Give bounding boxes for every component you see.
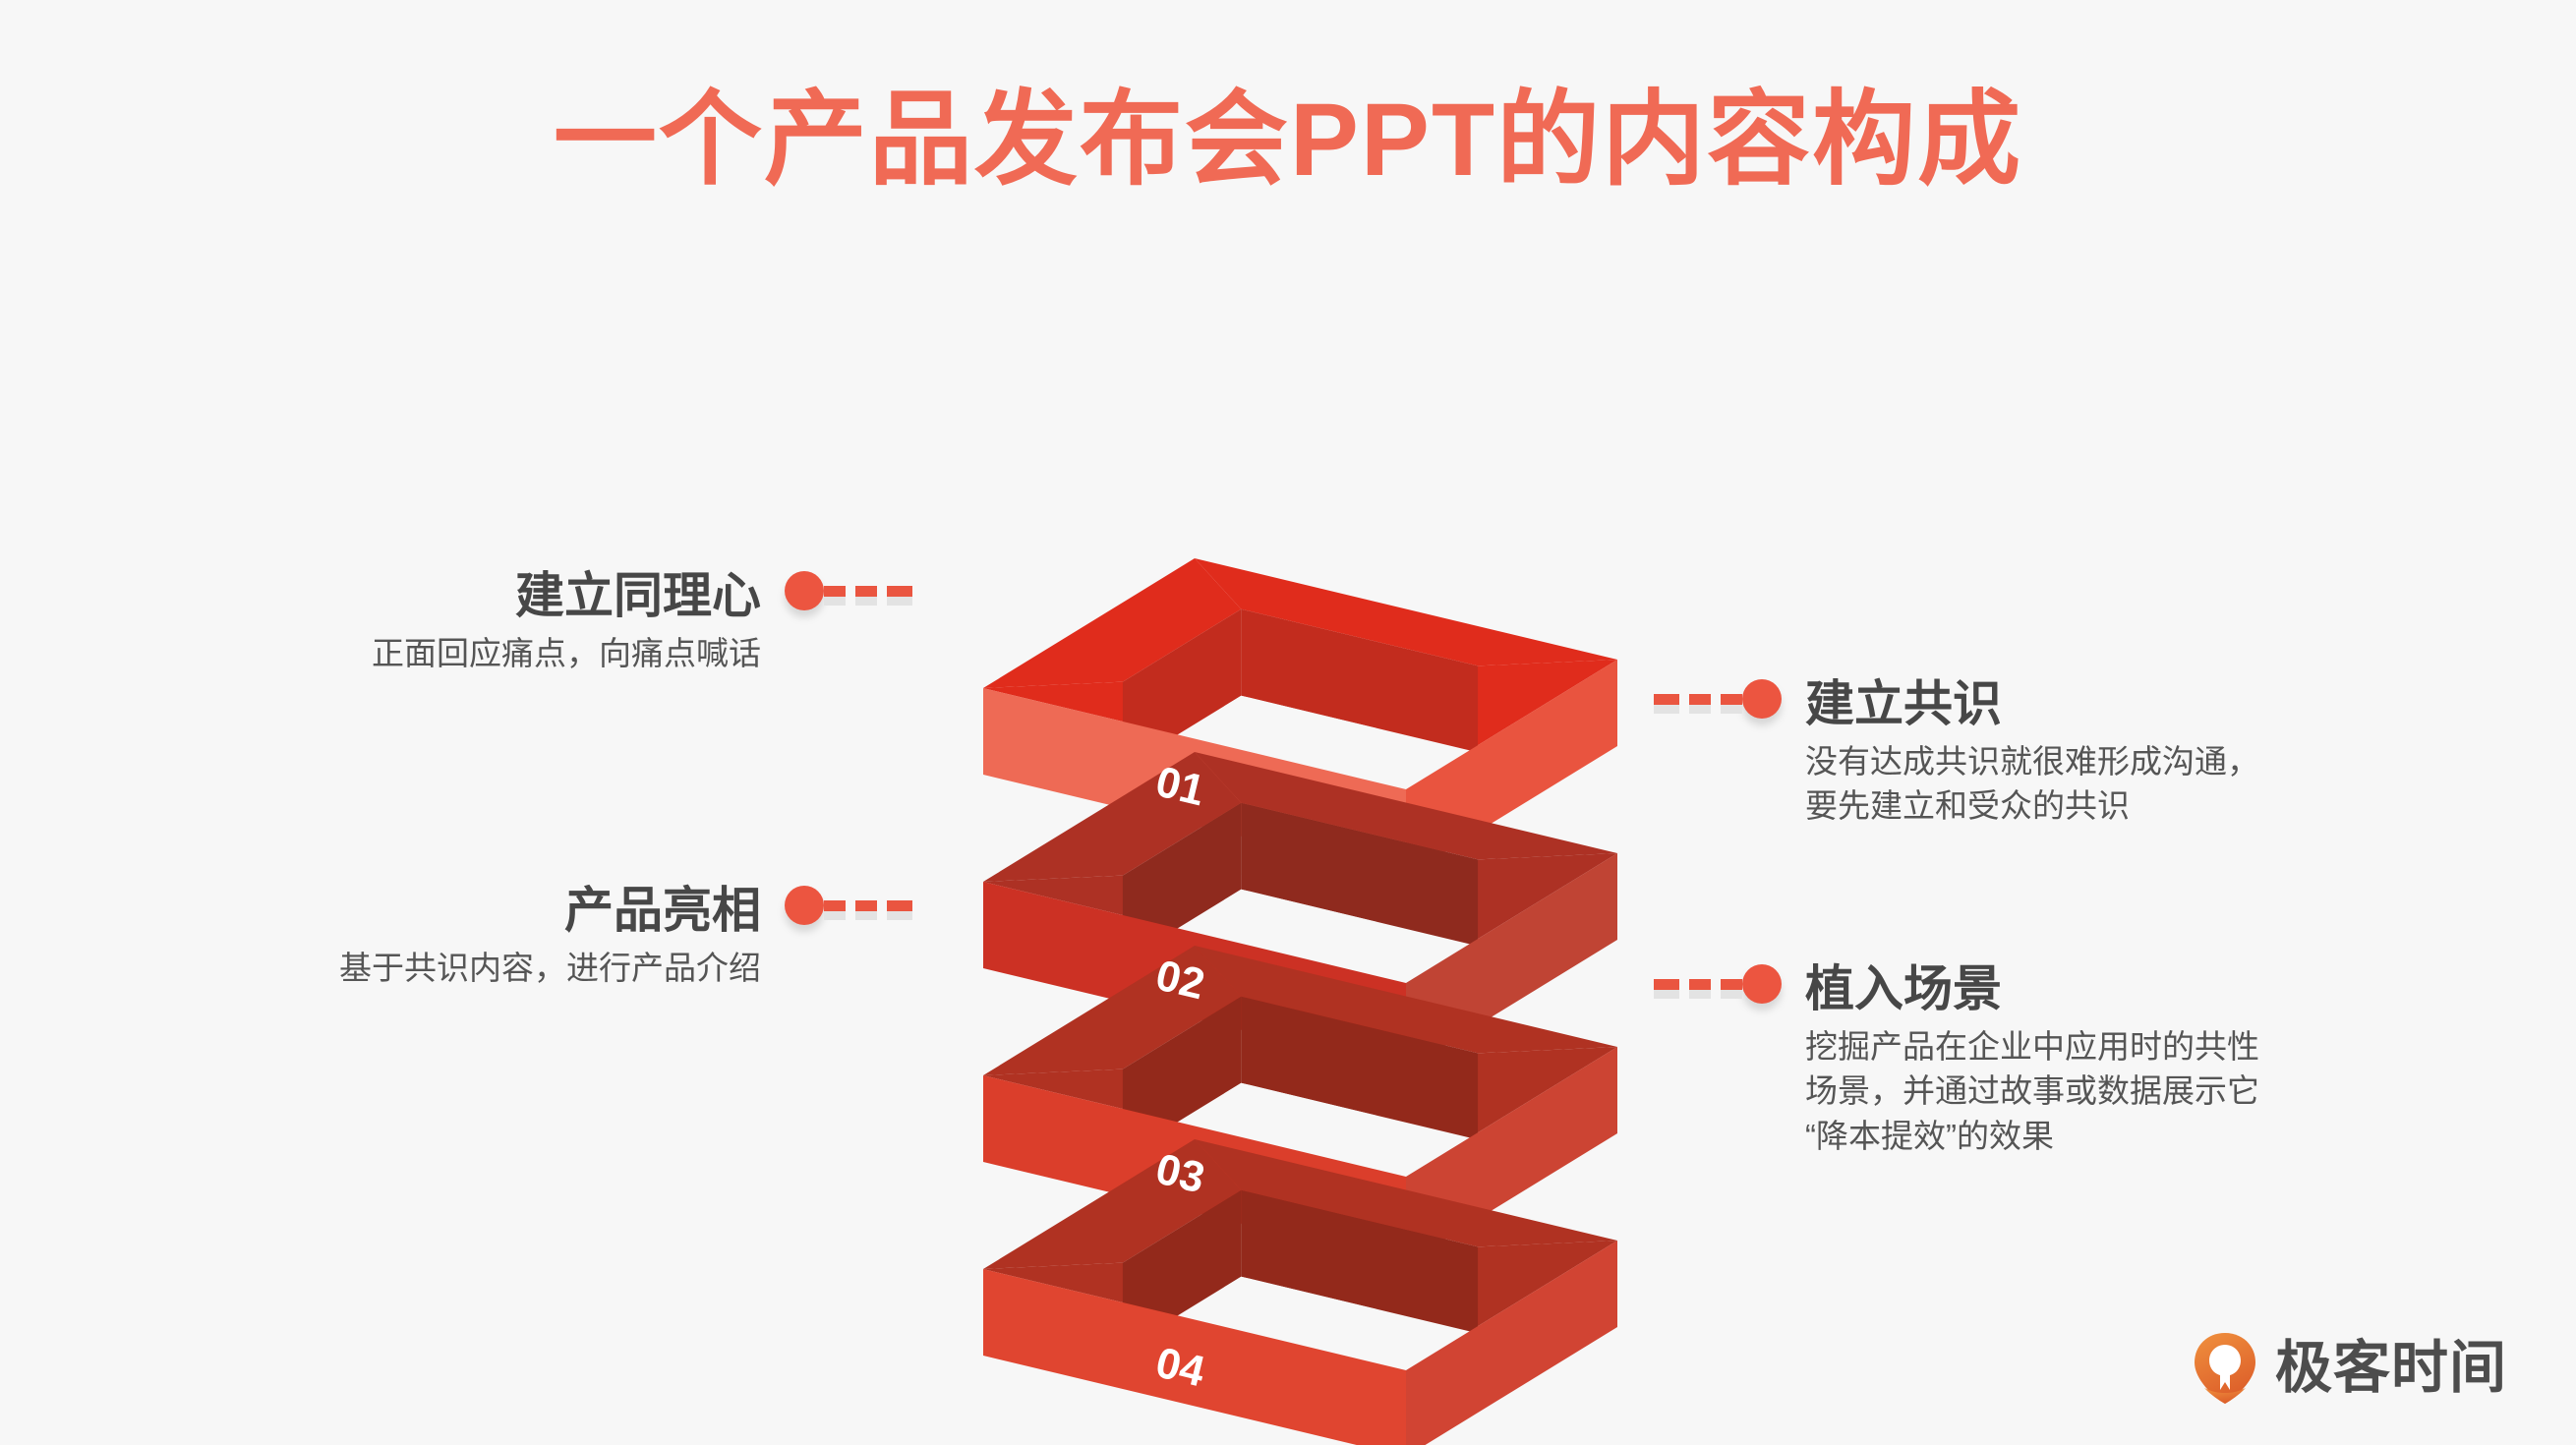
callout-1-texts: 建立同理心 正面回应痛点，向痛点喊话 bbox=[372, 568, 761, 675]
page-title: 一个产品发布会PPT的内容构成 bbox=[0, 79, 2576, 202]
connector-dot-icon bbox=[1742, 964, 1782, 1004]
callout-2-connector bbox=[1671, 676, 1782, 722]
callout-2[interactable]: 建立共识 没有达成共识就很难形成沟通， 要先建立和受众的共识 bbox=[1671, 676, 2259, 829]
callout-3[interactable]: 产品亮相 基于共识内容，进行产品介绍 bbox=[339, 883, 895, 990]
callout-3-heading: 产品亮相 bbox=[339, 883, 761, 940]
connector-dot-icon bbox=[785, 886, 824, 925]
stack-svg: 01020304 bbox=[944, 393, 1691, 1317]
connector-dashes-icon bbox=[824, 900, 891, 911]
callout-3-connector bbox=[785, 883, 895, 928]
connector-dot-icon bbox=[785, 571, 824, 610]
callout-2-heading: 建立共识 bbox=[1805, 676, 2259, 733]
callout-1[interactable]: 建立同理心 正面回应痛点，向痛点喊话 bbox=[372, 568, 895, 675]
callout-3-description: 基于共识内容，进行产品介绍 bbox=[339, 946, 761, 991]
callout-4-texts: 植入场景 挖掘产品在企业中应用时的共性 场景，并通过故事或数据展示它 “降本提效… bbox=[1805, 961, 2259, 1158]
connector-dot-icon bbox=[1742, 679, 1782, 719]
callout-1-connector bbox=[785, 568, 895, 613]
callout-4-connector bbox=[1671, 961, 1782, 1007]
connector-dashes-icon bbox=[824, 586, 891, 597]
callout-4-description: 挖掘产品在企业中应用时的共性 场景，并通过故事或数据展示它 “降本提效”的效果 bbox=[1805, 1024, 2259, 1159]
callout-1-heading: 建立同理心 bbox=[372, 568, 761, 625]
connector-dashes-icon bbox=[1675, 694, 1742, 705]
callout-4[interactable]: 植入场景 挖掘产品在企业中应用时的共性 场景，并通过故事或数据展示它 “降本提效… bbox=[1671, 961, 2259, 1158]
logo-wordmark: 极客时间 bbox=[2275, 1340, 2507, 1397]
brand-logo: 极客时间 bbox=[2191, 1331, 2507, 1406]
connector-dashes-icon bbox=[1675, 979, 1742, 990]
callout-3-texts: 产品亮相 基于共识内容，进行产品介绍 bbox=[339, 883, 761, 990]
slide-canvas: 一个产品发布会PPT的内容构成 01020304 建立同理心 正面回应痛点，向痛… bbox=[0, 0, 2576, 1445]
callout-4-heading: 植入场景 bbox=[1805, 961, 2259, 1018]
callout-1-description: 正面回应痛点，向痛点喊话 bbox=[372, 631, 761, 676]
isometric-stack: 01020304 bbox=[944, 393, 1691, 1317]
callout-2-description: 没有达成共识就很难形成沟通， 要先建立和受众的共识 bbox=[1805, 739, 2259, 829]
callout-2-texts: 建立共识 没有达成共识就很难形成沟通， 要先建立和受众的共识 bbox=[1805, 676, 2259, 829]
location-pin-icon bbox=[2191, 1331, 2259, 1406]
